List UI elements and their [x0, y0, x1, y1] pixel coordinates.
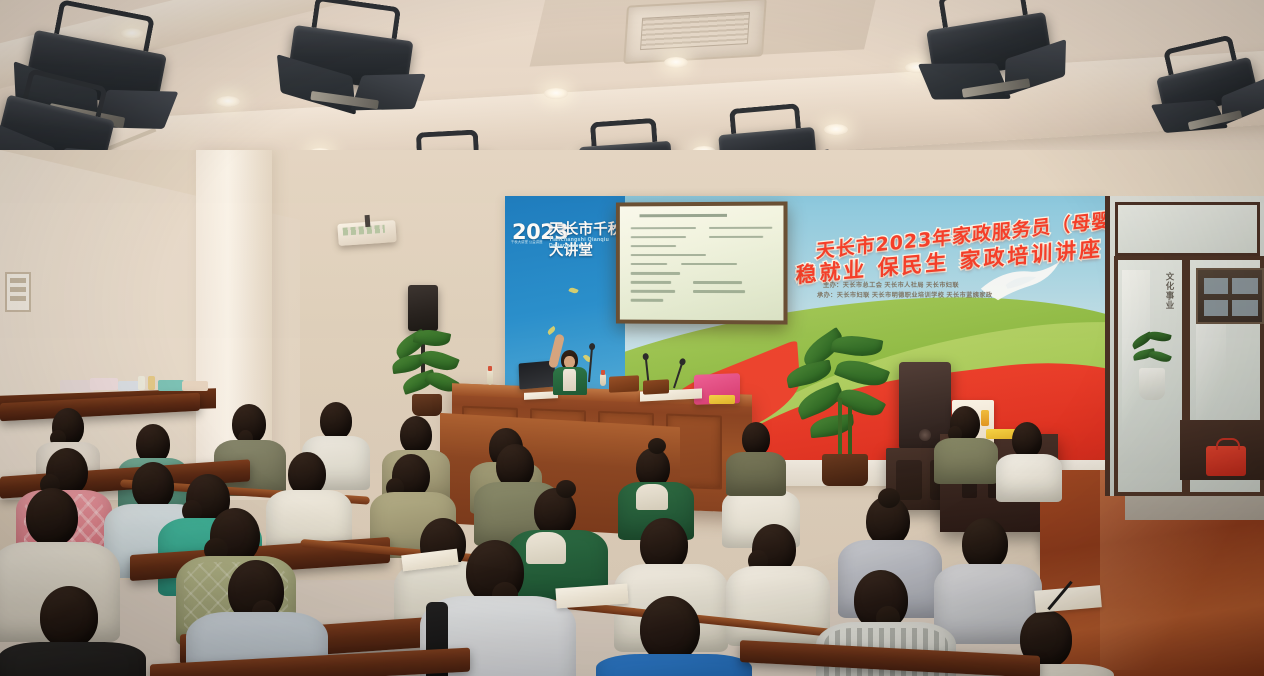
corridor-wall-text: 文化事业 — [1153, 272, 1175, 324]
water-bottle-icon — [600, 374, 606, 386]
slide-heading — [639, 214, 727, 217]
downlight-icon — [544, 88, 568, 99]
downlight-icon — [664, 57, 688, 68]
stage-light-icon — [285, 14, 415, 110]
back-row-items — [60, 378, 210, 394]
projection-screen-frame — [616, 201, 788, 324]
water-bottle-icon — [487, 370, 493, 385]
lecture-hall-photo: 2023 天长市千秋大讲堂 Tianchangshi Qianqiu Dajia… — [0, 0, 1264, 676]
wall-frame-icon — [5, 272, 31, 312]
stage-light-icon — [924, 1, 1055, 99]
ceiling-cassette-ac-icon — [623, 0, 767, 64]
wall-speaker-left-icon — [408, 285, 438, 331]
audience-area — [0, 400, 1120, 676]
downlight-icon — [216, 96, 240, 107]
red-gift-bag-icon — [1206, 446, 1246, 476]
desk-nameplate — [643, 379, 669, 394]
glass-transom — [1115, 202, 1260, 256]
desk-nameplate — [609, 375, 639, 393]
downlight-icon — [824, 124, 848, 135]
projector-mount — [365, 215, 371, 227]
banner-caption: 千秋大讲堂 公益讲座 — [511, 240, 545, 244]
corridor-potted-plant — [1131, 330, 1173, 400]
corridor-notice-board — [1196, 268, 1264, 324]
projection-screen — [620, 206, 784, 321]
dove-icon — [977, 260, 1063, 308]
